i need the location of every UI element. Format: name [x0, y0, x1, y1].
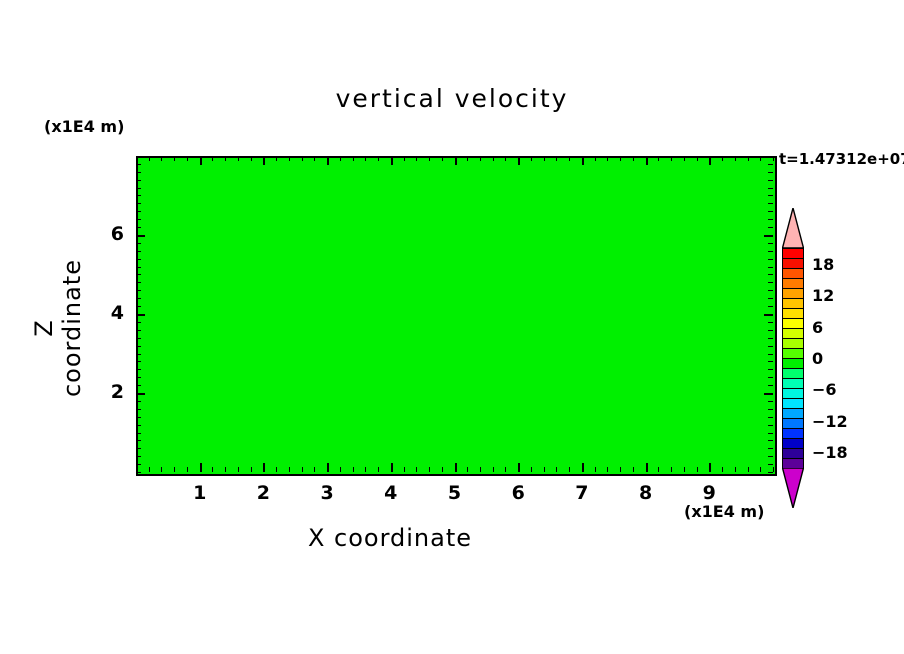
x-minor-tick-top	[505, 156, 506, 161]
x-minor-tick	[340, 467, 341, 472]
colorbar-tick-label: 0	[812, 349, 823, 368]
x-major-tick-top	[391, 156, 393, 165]
y-minor-tick-right	[768, 259, 773, 260]
y-minor-tick-right	[768, 330, 773, 331]
x-major-tick-top	[709, 156, 711, 165]
y-minor-tick	[136, 203, 141, 204]
y-minor-tick-right	[768, 156, 773, 157]
x-tick-label: 4	[371, 482, 411, 504]
contour-plot-area	[136, 156, 777, 476]
x-minor-tick	[633, 467, 634, 472]
y-minor-tick-right	[768, 440, 773, 441]
y-minor-tick-right	[768, 464, 773, 465]
y-minor-tick	[136, 172, 141, 173]
x-minor-tick-top	[161, 156, 162, 161]
x-minor-tick	[658, 467, 659, 472]
y-tick-label: 6	[84, 223, 124, 245]
y-minor-tick	[136, 464, 141, 465]
x-minor-tick-top	[187, 156, 188, 161]
x-minor-tick-top	[544, 156, 545, 161]
x-minor-tick-top	[314, 156, 315, 161]
x-tick-label: 6	[498, 482, 538, 504]
x-minor-tick	[722, 467, 723, 472]
y-minor-tick-right	[768, 338, 773, 339]
colorbar-over-cap	[782, 208, 804, 248]
x-minor-tick	[289, 467, 290, 472]
y-minor-tick	[136, 156, 141, 157]
y-minor-tick	[136, 322, 141, 323]
y-minor-tick-right	[768, 346, 773, 347]
x-minor-tick-top	[697, 156, 698, 161]
y-minor-tick-right	[768, 188, 773, 189]
colorbar-tick-label: 12	[812, 286, 834, 305]
x-major-tick	[709, 463, 711, 472]
x-minor-tick	[212, 467, 213, 472]
y-minor-tick	[136, 267, 141, 268]
x-axis-unit-label: (x1E4 m)	[684, 502, 764, 521]
y-minor-tick	[136, 338, 141, 339]
y-axis-unit-label: (x1E4 m)	[44, 117, 124, 136]
x-minor-tick	[149, 467, 150, 472]
x-minor-tick	[569, 467, 570, 472]
x-minor-tick	[480, 467, 481, 472]
y-minor-tick	[136, 306, 141, 307]
x-minor-tick-top	[684, 156, 685, 161]
x-minor-tick-top	[340, 156, 341, 161]
x-minor-tick	[531, 467, 532, 472]
x-tick-label: 3	[307, 482, 347, 504]
y-minor-tick-right	[768, 385, 773, 386]
x-major-tick	[327, 463, 329, 472]
y-minor-tick	[136, 211, 141, 212]
y-minor-tick-right	[768, 322, 773, 323]
colorbar	[782, 208, 808, 508]
x-minor-tick-top	[212, 156, 213, 161]
x-tick-label: 9	[689, 482, 729, 504]
y-minor-tick-right	[768, 425, 773, 426]
x-major-tick	[391, 463, 393, 472]
x-minor-tick-top	[238, 156, 239, 161]
y-minor-tick-right	[768, 361, 773, 362]
x-minor-tick-top	[760, 156, 761, 161]
x-major-tick	[518, 463, 520, 472]
y-minor-tick	[136, 188, 141, 189]
y-major-tick-right	[764, 393, 773, 395]
x-minor-tick-top	[225, 156, 226, 161]
x-minor-tick-top	[302, 156, 303, 161]
x-minor-tick-top	[276, 156, 277, 161]
figure-canvas: vertical velocity (x1E4 m) (x1E4 m) t=1.…	[0, 0, 904, 654]
x-minor-tick	[760, 467, 761, 472]
x-minor-tick	[187, 467, 188, 472]
y-minor-tick	[136, 346, 141, 347]
x-major-tick-top	[518, 156, 520, 165]
y-minor-tick	[136, 259, 141, 260]
x-minor-tick-top	[429, 156, 430, 161]
y-minor-tick-right	[768, 251, 773, 252]
y-minor-tick	[136, 440, 141, 441]
y-minor-tick-right	[768, 448, 773, 449]
y-minor-tick-right	[768, 472, 773, 473]
y-minor-tick	[136, 330, 141, 331]
x-minor-tick-top	[556, 156, 557, 161]
x-minor-tick	[697, 467, 698, 472]
x-minor-tick-top	[569, 156, 570, 161]
x-minor-tick-top	[595, 156, 596, 161]
x-minor-tick-top	[748, 156, 749, 161]
x-minor-tick-top	[404, 156, 405, 161]
y-minor-tick	[136, 472, 141, 473]
x-major-tick-top	[646, 156, 648, 165]
colorbar-tick-label: 18	[812, 255, 834, 274]
y-minor-tick-right	[768, 172, 773, 173]
x-major-tick	[455, 463, 457, 472]
x-minor-tick-top	[480, 156, 481, 161]
y-minor-tick-right	[768, 219, 773, 220]
y-minor-tick	[136, 448, 141, 449]
x-minor-tick-top	[467, 156, 468, 161]
y-minor-tick-right	[768, 195, 773, 196]
x-minor-tick-top	[251, 156, 252, 161]
y-minor-tick	[136, 409, 141, 410]
colorbar-tick-label: −12	[812, 412, 848, 431]
x-major-tick-top	[263, 156, 265, 165]
x-minor-tick-top	[365, 156, 366, 161]
x-minor-tick-top	[671, 156, 672, 161]
figure-title: vertical velocity	[0, 84, 904, 113]
y-minor-tick	[136, 180, 141, 181]
y-minor-tick	[136, 290, 141, 291]
y-minor-tick	[136, 433, 141, 434]
x-minor-tick	[404, 467, 405, 472]
x-minor-tick	[225, 467, 226, 472]
x-minor-tick	[314, 467, 315, 472]
y-minor-tick	[136, 361, 141, 362]
y-minor-tick	[136, 195, 141, 196]
y-tick-label: 4	[84, 302, 124, 324]
y-minor-tick	[136, 417, 141, 418]
x-minor-tick-top	[493, 156, 494, 161]
y-minor-tick-right	[768, 267, 773, 268]
x-minor-tick	[735, 467, 736, 472]
x-minor-tick	[493, 467, 494, 472]
x-minor-tick-top	[531, 156, 532, 161]
time-annotation: t=1.47312e+07	[779, 150, 904, 168]
x-minor-tick-top	[289, 156, 290, 161]
y-major-tick	[136, 393, 145, 395]
y-major-tick-right	[764, 314, 773, 316]
x-major-tick	[200, 463, 202, 472]
x-minor-tick	[595, 467, 596, 472]
velocity-field-canvas	[138, 158, 775, 474]
y-minor-tick-right	[768, 456, 773, 457]
y-minor-tick-right	[768, 203, 773, 204]
y-minor-tick	[136, 298, 141, 299]
y-minor-tick-right	[768, 298, 773, 299]
y-tick-label: 2	[84, 381, 124, 403]
x-major-tick-top	[200, 156, 202, 165]
x-minor-tick	[442, 467, 443, 472]
x-tick-label: 7	[562, 482, 602, 504]
y-minor-tick	[136, 243, 141, 244]
x-minor-tick	[505, 467, 506, 472]
y-minor-tick-right	[768, 369, 773, 370]
x-major-tick-top	[455, 156, 457, 165]
colorbar-under-cap	[782, 468, 804, 508]
y-major-tick	[136, 314, 145, 316]
y-minor-tick-right	[768, 227, 773, 228]
x-major-tick	[582, 463, 584, 472]
x-tick-label: 2	[243, 482, 283, 504]
y-minor-tick	[136, 456, 141, 457]
x-minor-tick	[671, 467, 672, 472]
x-minor-tick-top	[722, 156, 723, 161]
x-major-tick	[646, 463, 648, 472]
y-minor-tick	[136, 401, 141, 402]
y-major-tick-right	[764, 235, 773, 237]
colorbar-tick-label: −6	[812, 380, 837, 399]
x-minor-tick-top	[620, 156, 621, 161]
x-minor-tick-top	[353, 156, 354, 161]
y-minor-tick	[136, 251, 141, 252]
x-minor-tick	[556, 467, 557, 472]
y-minor-tick-right	[768, 377, 773, 378]
x-minor-tick-top	[378, 156, 379, 161]
colorbar-tick-label: 6	[812, 318, 823, 337]
y-minor-tick	[136, 377, 141, 378]
x-minor-tick	[429, 467, 430, 472]
x-minor-tick	[365, 467, 366, 472]
x-minor-tick-top	[416, 156, 417, 161]
x-minor-tick	[544, 467, 545, 472]
x-minor-tick	[161, 467, 162, 472]
x-minor-tick	[174, 467, 175, 472]
x-minor-tick	[378, 467, 379, 472]
y-minor-tick-right	[768, 290, 773, 291]
x-minor-tick-top	[658, 156, 659, 161]
y-minor-tick	[136, 385, 141, 386]
x-minor-tick-top	[773, 156, 774, 161]
y-minor-tick	[136, 274, 141, 275]
y-minor-tick-right	[768, 354, 773, 355]
y-axis-title: Z coordinate	[30, 248, 86, 408]
x-minor-tick	[302, 467, 303, 472]
y-minor-tick-right	[768, 282, 773, 283]
colorbar-tick-label: −18	[812, 443, 848, 462]
x-minor-tick	[353, 467, 354, 472]
x-minor-tick	[684, 467, 685, 472]
x-major-tick-top	[327, 156, 329, 165]
y-minor-tick-right	[768, 417, 773, 418]
y-minor-tick	[136, 164, 141, 165]
x-minor-tick	[467, 467, 468, 472]
x-minor-tick	[607, 467, 608, 472]
x-minor-tick-top	[149, 156, 150, 161]
y-minor-tick	[136, 282, 141, 283]
x-tick-label: 5	[435, 482, 475, 504]
y-minor-tick	[136, 425, 141, 426]
x-minor-tick	[416, 467, 417, 472]
y-minor-tick-right	[768, 274, 773, 275]
x-minor-tick	[748, 467, 749, 472]
y-minor-tick-right	[768, 243, 773, 244]
y-minor-tick-right	[768, 306, 773, 307]
x-minor-tick-top	[633, 156, 634, 161]
y-minor-tick	[136, 354, 141, 355]
y-minor-tick	[136, 227, 141, 228]
x-minor-tick-top	[607, 156, 608, 161]
x-minor-tick	[238, 467, 239, 472]
x-tick-label: 1	[180, 482, 220, 504]
x-axis-title: X coordinate	[0, 524, 780, 552]
y-minor-tick-right	[768, 164, 773, 165]
y-major-tick	[136, 235, 145, 237]
x-tick-label: 8	[626, 482, 666, 504]
y-minor-tick	[136, 219, 141, 220]
y-minor-tick-right	[768, 401, 773, 402]
y-minor-tick-right	[768, 180, 773, 181]
x-minor-tick-top	[174, 156, 175, 161]
x-major-tick-top	[582, 156, 584, 165]
x-minor-tick	[251, 467, 252, 472]
x-major-tick	[263, 463, 265, 472]
x-minor-tick-top	[442, 156, 443, 161]
y-minor-tick-right	[768, 409, 773, 410]
x-minor-tick	[276, 467, 277, 472]
x-minor-tick	[773, 467, 774, 472]
x-minor-tick	[620, 467, 621, 472]
y-minor-tick-right	[768, 211, 773, 212]
y-minor-tick	[136, 369, 141, 370]
y-minor-tick-right	[768, 433, 773, 434]
x-minor-tick-top	[735, 156, 736, 161]
